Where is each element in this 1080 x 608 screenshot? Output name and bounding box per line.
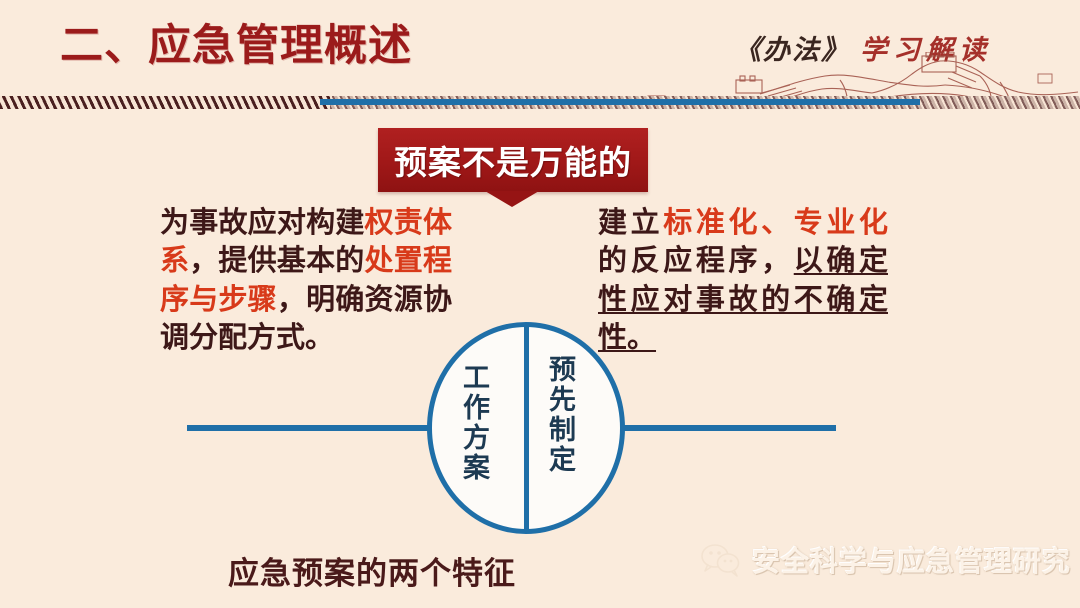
left-text-column: 为事故应对构建权责体系，提供基本的处置程序与步骤，明确资源协调分配方式。 <box>160 203 452 356</box>
right-seg-2: 的反应程序， <box>598 243 794 277</box>
diagram-connector-left <box>187 425 432 431</box>
watermark: 安全科学与应急管理研究 <box>700 540 1071 580</box>
diagram-connector-right <box>620 425 836 431</box>
headline-banner-notch <box>485 191 539 207</box>
watermark-label: 安全科学与应急管理研究 <box>752 540 1071 580</box>
slide-root: 二、应急管理概述 《办法》学习解读 <box>0 0 1080 608</box>
diagram-circle-divider <box>524 327 529 529</box>
headline-banner: 预案不是万能的 <box>378 128 648 192</box>
diagram-caption-label: 应急预案的两个特征 <box>228 556 516 592</box>
left-seg-0: 为事故应对构建 <box>160 205 365 239</box>
right-seg-1: 标准化、专业化 <box>663 205 888 239</box>
diagram-label-left: 工作方案 <box>460 363 487 483</box>
wechat-icon <box>700 543 740 577</box>
right-seg-0: 建立 <box>598 205 663 239</box>
diagram-label-right: 预先制定 <box>546 355 573 475</box>
right-text-column: 建立标准化、专业化的反应程序，以确定性应对事故的不确定性。 <box>598 203 888 356</box>
left-seg-2: ，提供基本的 <box>189 243 364 277</box>
page-title: 二、应急管理概述 <box>60 22 412 71</box>
headline-banner-label: 预案不是万能的 <box>394 136 632 184</box>
divider-blue-rule <box>320 99 920 105</box>
